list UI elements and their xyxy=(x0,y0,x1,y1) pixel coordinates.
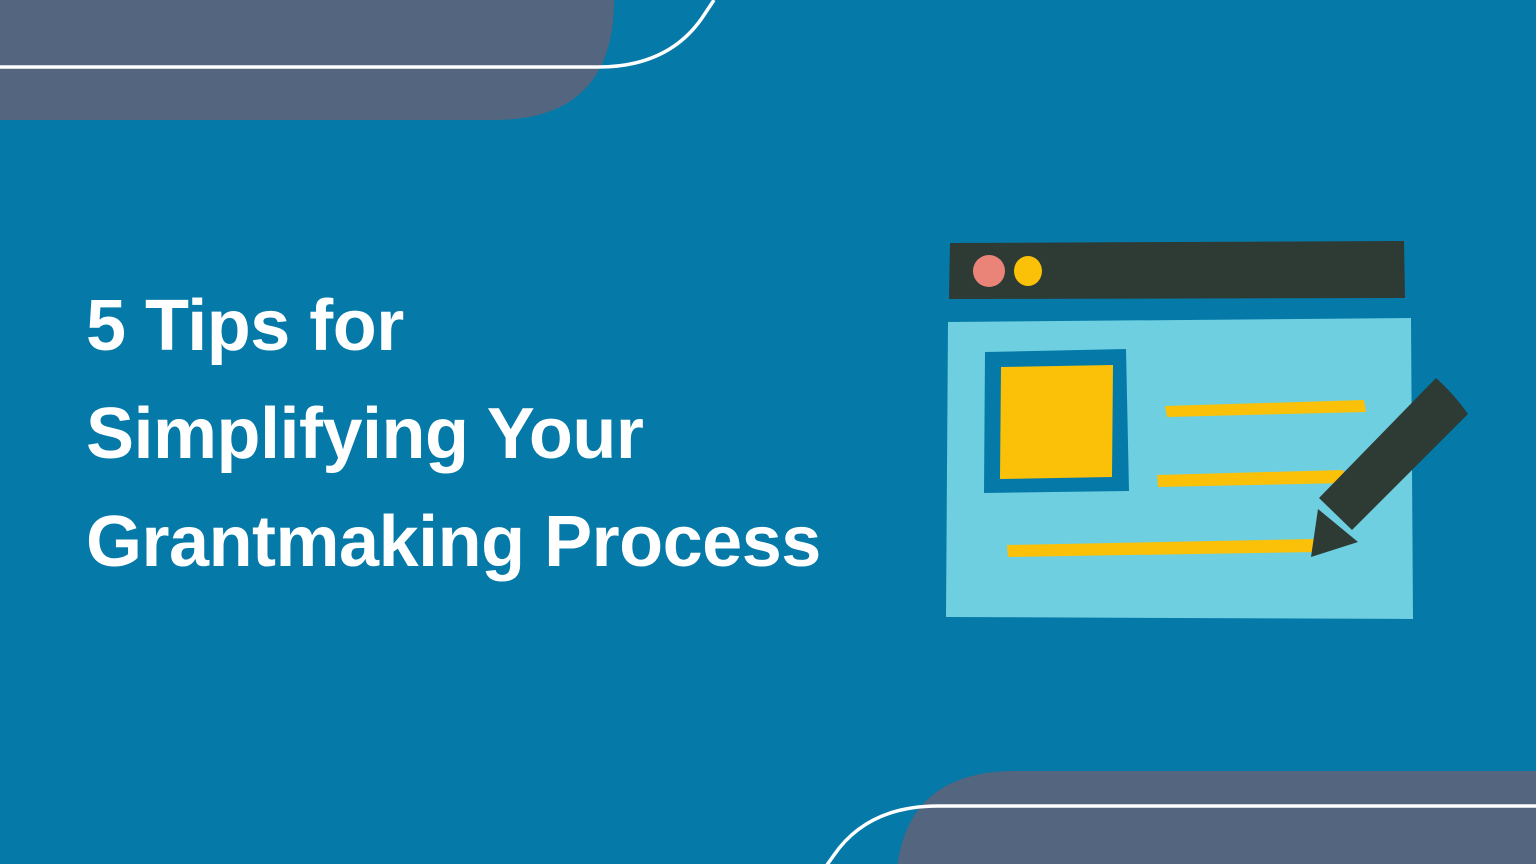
red-dot-icon xyxy=(973,255,1005,287)
illustration-browser-window-with-pencil xyxy=(930,230,1490,630)
yellow-dot-icon xyxy=(1014,256,1042,286)
bottom-right-decor-shape-fill xyxy=(896,771,1536,864)
top-left-decor-shape xyxy=(0,0,614,120)
slide-canvas: 5 Tips for Simplifying Your Grantmaking … xyxy=(0,0,1536,864)
page-title: 5 Tips for Simplifying Your Grantmaking … xyxy=(86,272,946,596)
yellow-square-thumbnail xyxy=(1000,365,1113,479)
